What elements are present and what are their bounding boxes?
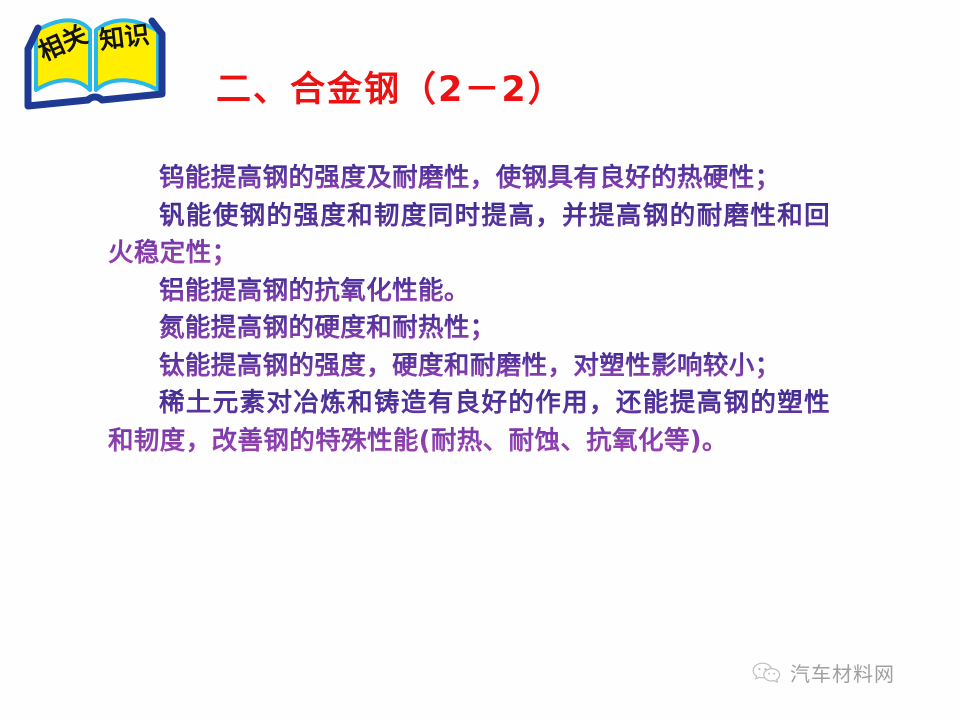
wechat-bubble-front <box>764 668 780 682</box>
slide-canvas: 相关 知识 二、合金钢（2－2） 钨能提高钢的强度及耐磨性，使钢具有良好的热硬性… <box>0 0 960 720</box>
page-title: 二、合金钢（2－2） <box>216 70 565 110</box>
watermark-label: 汽车材料网 <box>790 658 895 687</box>
paragraph-nitrogen: 氮能提高钢的硬度和耐热性； <box>108 310 830 348</box>
wechat-eye-front-left <box>768 672 770 674</box>
wechat-icon <box>752 661 782 685</box>
paragraph-titanium: 钛能提高钢的强度，硬度和耐磨性，对塑性影响较小； <box>108 348 830 386</box>
wechat-eye-back-left <box>758 668 760 670</box>
paragraph-tungsten: 钨能提高钢的强度及耐磨性，使钢具有良好的热硬性； <box>108 160 830 198</box>
paragraph-rare-earth: 稀土元素对冶炼和铸造有良好的作用，还能提高钢的塑性和韧度，改善钢的特殊性能(耐热… <box>108 385 830 460</box>
open-book-icon <box>10 4 180 120</box>
body-text-block: 钨能提高钢的强度及耐磨性，使钢具有良好的热硬性； 钒能使钢的强度和韧度同时提高，… <box>108 160 830 460</box>
wechat-eye-front-right <box>773 672 775 674</box>
paragraph-aluminium: 铝能提高钢的抗氧化性能。 <box>108 273 830 311</box>
badge-label-right: 知识 <box>98 22 151 53</box>
related-knowledge-badge: 相关 知识 <box>10 4 180 120</box>
watermark: 汽车材料网 <box>752 658 895 687</box>
paragraph-vanadium: 钒能使钢的强度和韧度同时提高，并提高钢的耐磨性和回火稳定性； <box>108 198 830 273</box>
